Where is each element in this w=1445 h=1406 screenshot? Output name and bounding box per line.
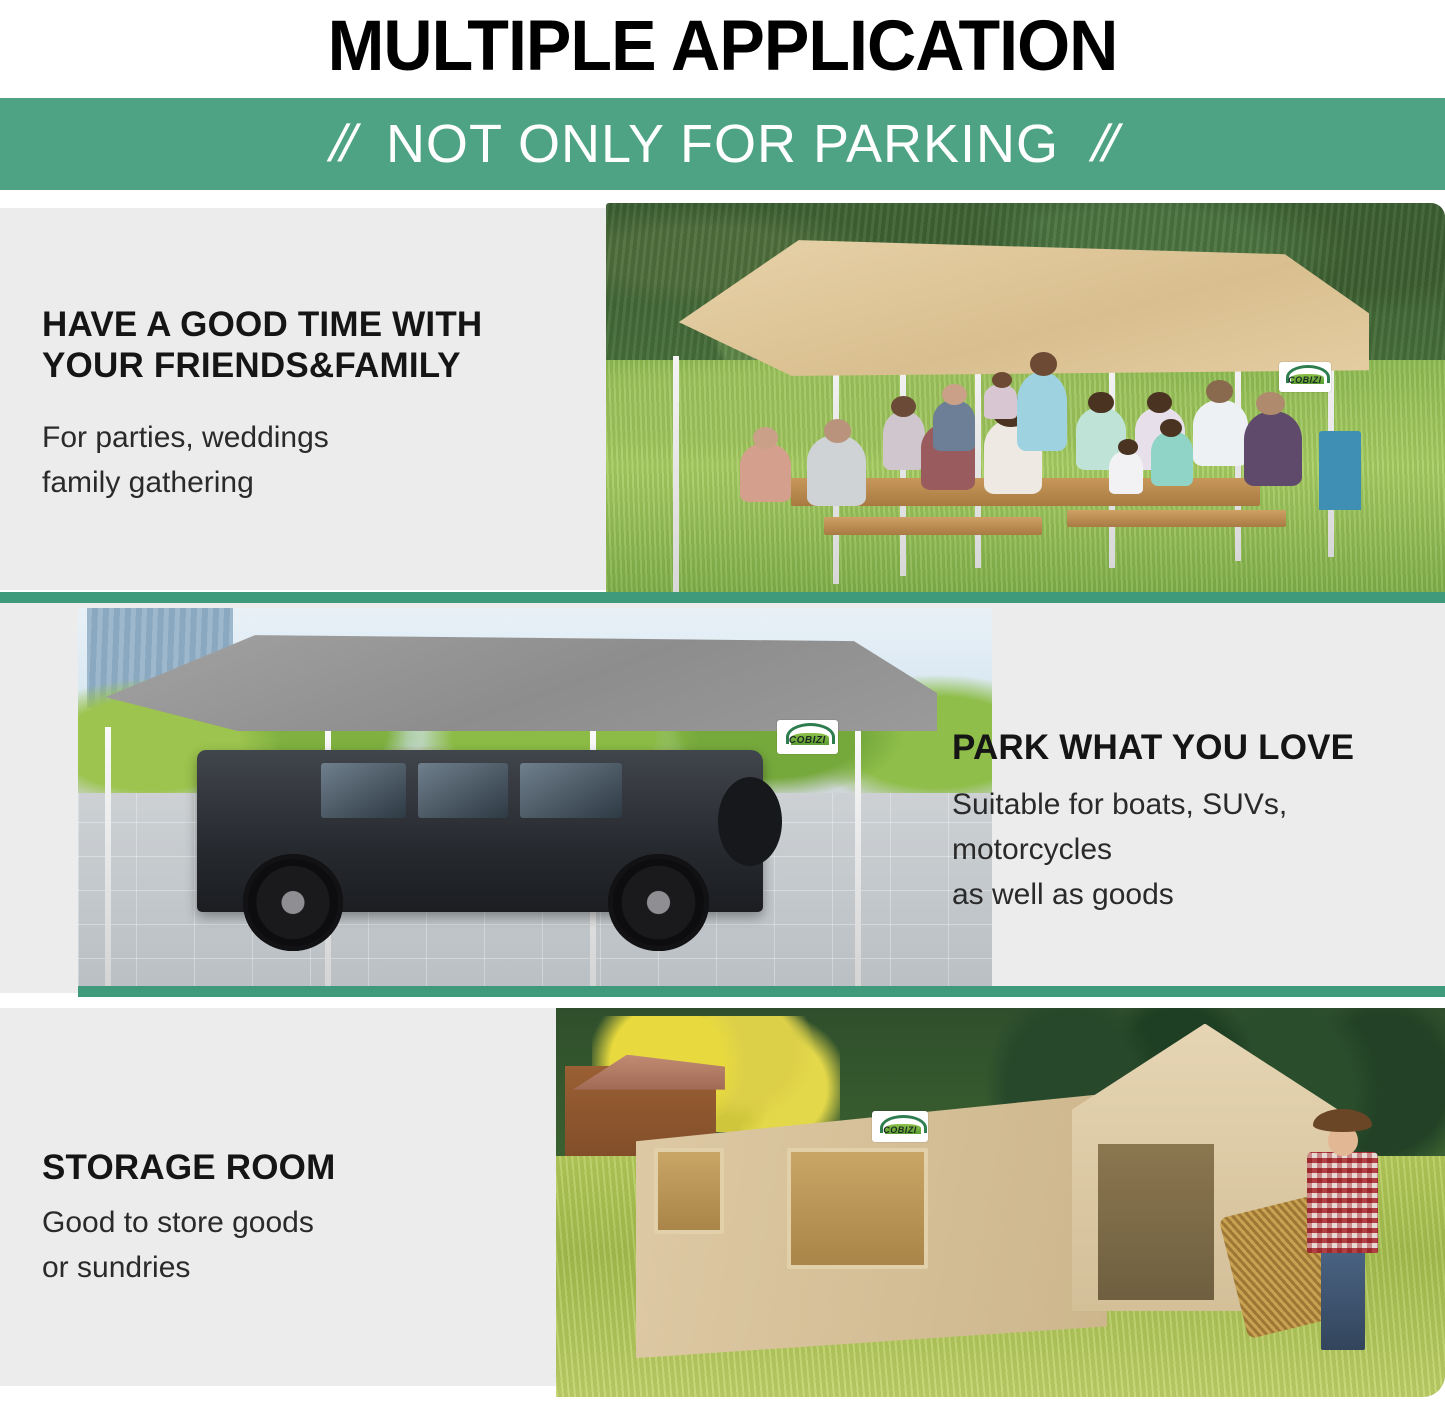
person-standing [1017, 372, 1067, 451]
section-friends-family-panel [0, 208, 612, 590]
slash-left-icon: // [325, 118, 359, 170]
section-divider [0, 592, 1445, 603]
section-park-heading: PARK WHAT YOU LOVE [952, 728, 1432, 769]
carport-post [105, 727, 111, 989]
child [984, 384, 1018, 419]
carport-roof [105, 631, 937, 731]
vehicle-window [321, 763, 406, 818]
header-subtitle-text: NOT ONLY FOR PARKING [386, 117, 1059, 171]
person-head [1030, 352, 1057, 376]
cowboy-hat-icon [1313, 1109, 1372, 1132]
section-storage-subtext: Good to store goods or sundries [42, 1200, 542, 1290]
vehicle-window [520, 763, 622, 818]
person-head [1088, 392, 1113, 414]
vehicle-wheel [243, 854, 344, 950]
person [1244, 411, 1303, 486]
page-title: MULTIPLE APPLICATION [29, 0, 1416, 92]
person-head [1206, 380, 1233, 404]
cobizi-logo-badge: COBIZI [777, 720, 837, 755]
photo-storage-shed: COBIZI [556, 1008, 1445, 1397]
header-subtitle-band: // NOT ONLY FOR PARKING // [0, 98, 1445, 190]
child-head [1160, 419, 1182, 437]
canopy-post [975, 352, 981, 568]
picnic-bench [1067, 510, 1285, 528]
vehicle-window [418, 763, 509, 818]
shed-doorway [1098, 1144, 1214, 1300]
person [933, 400, 975, 451]
carport-post [855, 727, 861, 989]
person-head [1256, 392, 1285, 416]
person [883, 411, 925, 470]
child [1151, 431, 1193, 486]
vehicle-wheel [608, 854, 709, 950]
section-storage-heading: STORAGE ROOM [42, 1148, 542, 1189]
child [1109, 451, 1143, 494]
section-divider [78, 986, 1445, 997]
photo-family-picnic: COBIZI [606, 203, 1445, 596]
canopy-post [673, 356, 679, 592]
person [1193, 400, 1248, 467]
spare-tire [718, 777, 782, 866]
hay-bale [583, 1234, 636, 1281]
cobizi-wordmark: COBIZI [1288, 376, 1322, 385]
blue-chair [1319, 431, 1361, 510]
photo-suv-carport: COBIZI [78, 608, 992, 993]
section-friends-family-heading: HAVE A GOOD TIME WITH YOUR FRIENDS&FAMIL… [42, 305, 602, 387]
shed-window [787, 1148, 928, 1269]
person-head [824, 419, 851, 443]
person-head [942, 384, 967, 406]
shed-window [654, 1148, 724, 1234]
cobizi-wordmark: COBIZI [883, 1126, 917, 1135]
person [807, 435, 866, 506]
cobizi-logo-badge: COBIZI [1279, 362, 1331, 391]
cobizi-wordmark: COBIZI [789, 736, 826, 746]
section-storage-panel [0, 1008, 562, 1386]
farmer-jeans [1321, 1249, 1365, 1350]
section-park-subtext: Suitable for boats, SUVs, motorcycles as… [952, 782, 1432, 917]
farmer-plaid-shirt [1307, 1152, 1378, 1253]
person-head [753, 427, 778, 449]
child-head [1118, 439, 1138, 455]
picnic-bench [824, 517, 1042, 535]
child-head [992, 372, 1012, 388]
cobizi-logo-badge: COBIZI [872, 1111, 929, 1142]
slash-right-icon: // [1087, 118, 1121, 170]
person [740, 443, 790, 502]
section-friends-family-subtext: For parties, weddings family gathering [42, 415, 602, 505]
